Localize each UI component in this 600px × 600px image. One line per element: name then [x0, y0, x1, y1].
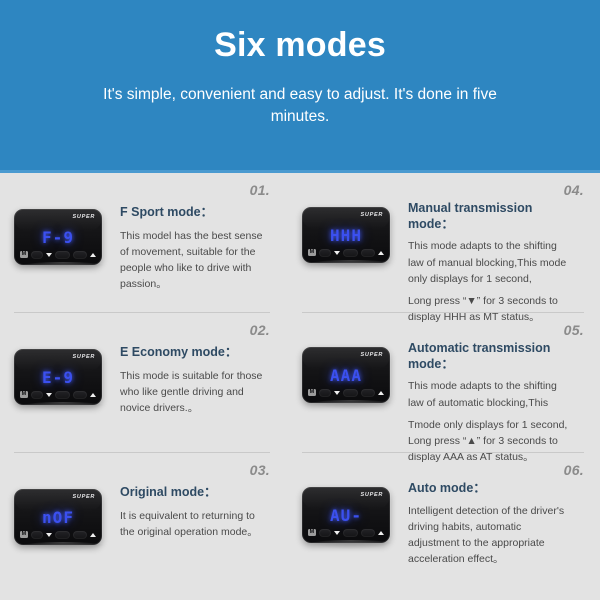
mode-cell: SUPER nOF M: [0, 453, 292, 600]
triangle-down-icon[interactable]: [334, 251, 340, 255]
device-screen: AAA: [302, 364, 390, 387]
mode-cell: SUPER HHH M: [292, 173, 592, 313]
triangle-down-icon[interactable]: [46, 393, 52, 397]
mode-title: Auto mode：: [408, 481, 568, 497]
button-bar-right[interactable]: [361, 249, 375, 257]
mode-title: Manual transmission mode：: [408, 201, 568, 232]
mode-button[interactable]: M: [308, 389, 316, 396]
device-image: SUPER F-9 M: [0, 173, 120, 265]
mode-cell: SUPER E-9 M: [0, 313, 292, 453]
button-bar-mid[interactable]: [343, 249, 358, 257]
device-image: SUPER nOF M: [0, 453, 120, 545]
device-brand-label: SUPER: [73, 354, 95, 360]
mode-button[interactable]: M: [308, 529, 316, 536]
mode-title: Original mode：: [120, 485, 270, 501]
triangle-down-icon[interactable]: [46, 253, 52, 257]
button-bar-right[interactable]: [73, 531, 87, 539]
mode-description: This mode adapts to the shifting law of …: [408, 378, 572, 411]
device-display-value: AU-: [330, 508, 362, 524]
button-bar-mid[interactable]: [343, 389, 358, 397]
mode-title: E Economy mode：: [120, 345, 270, 361]
throttle-controller-device: SUPER HHH M: [302, 207, 390, 263]
mode-cell: SUPER AU- M: [292, 453, 592, 600]
page-root: Six modes It's simple, convenient and ea…: [0, 0, 600, 600]
device-display-value: HHH: [330, 228, 362, 244]
device-button-row: M: [20, 389, 96, 400]
device-image: SUPER AAA M: [292, 313, 408, 403]
mode-button[interactable]: M: [20, 531, 28, 538]
device-display-value: F-9: [42, 230, 74, 246]
mode-number: 05.: [564, 322, 584, 338]
device-display-value: nOF: [42, 510, 74, 526]
mode-text: 04. Manual transmission mode： This mode …: [408, 173, 592, 326]
button-bar-left[interactable]: [319, 529, 331, 537]
triangle-up-icon[interactable]: [378, 391, 384, 395]
throttle-controller-device: SUPER E-9 M: [14, 349, 102, 405]
triangle-up-icon[interactable]: [378, 531, 384, 535]
button-bar-mid[interactable]: [55, 251, 70, 259]
button-bar-mid[interactable]: [343, 529, 358, 537]
device-button-row: M: [20, 249, 96, 260]
mode-description: Intelligent detection of the driver's dr…: [408, 503, 572, 568]
mode-description: This mode adapts to the shifting law of …: [408, 238, 572, 287]
button-bar-left[interactable]: [319, 389, 331, 397]
triangle-up-icon[interactable]: [378, 251, 384, 255]
device-brand-label: SUPER: [361, 212, 383, 218]
device-brand-label: SUPER: [361, 492, 383, 498]
device-image: SUPER HHH M: [292, 173, 408, 263]
button-bar-left[interactable]: [31, 251, 43, 259]
button-bar-right[interactable]: [73, 251, 87, 259]
triangle-down-icon[interactable]: [46, 533, 52, 537]
mode-button[interactable]: M: [308, 249, 316, 256]
device-screen: HHH: [302, 224, 390, 247]
mode-text: 05. Automatic transmission mode： This mo…: [408, 313, 592, 466]
button-bar-left[interactable]: [31, 531, 43, 539]
mode-cell: SUPER AAA M: [292, 313, 592, 453]
mode-cell: SUPER F-9 M: [0, 173, 292, 313]
modes-section: SUPER F-9 M: [0, 173, 600, 600]
device-screen: F-9: [14, 226, 102, 249]
device-screen: nOF: [14, 506, 102, 529]
device-button-row: M: [20, 529, 96, 540]
device-brand-label: SUPER: [361, 352, 383, 358]
device-screen: AU-: [302, 504, 390, 527]
header-banner: Six modes It's simple, convenient and ea…: [0, 0, 600, 170]
mode-title: Automatic transmission mode：: [408, 341, 568, 372]
mode-number: 03.: [250, 462, 270, 478]
button-bar-right[interactable]: [361, 529, 375, 537]
device-display-value: AAA: [330, 368, 362, 384]
triangle-up-icon[interactable]: [90, 393, 96, 397]
triangle-up-icon[interactable]: [90, 253, 96, 257]
mode-number: 06.: [564, 462, 584, 478]
mode-description: This mode is suitable for those who like…: [120, 368, 272, 417]
throttle-controller-device: SUPER F-9 M: [14, 209, 102, 265]
mode-number: 01.: [250, 182, 270, 198]
mode-text: 01. F Sport mode： This model has the bes…: [120, 173, 292, 293]
device-brand-label: SUPER: [73, 494, 95, 500]
device-image: SUPER E-9 M: [0, 313, 120, 405]
button-bar-left[interactable]: [31, 391, 43, 399]
triangle-down-icon[interactable]: [334, 391, 340, 395]
device-button-row: M: [308, 387, 384, 398]
mode-text: 02. E Economy mode： This mode is suitabl…: [120, 313, 292, 416]
device-brand-label: SUPER: [73, 214, 95, 220]
device-button-row: M: [308, 527, 384, 538]
button-bar-right[interactable]: [73, 391, 87, 399]
modes-grid: SUPER F-9 M: [0, 173, 592, 600]
mode-button[interactable]: M: [20, 391, 28, 398]
mode-description: This model has the best sense of movemen…: [120, 228, 272, 293]
triangle-down-icon[interactable]: [334, 531, 340, 535]
button-bar-mid[interactable]: [55, 531, 70, 539]
throttle-controller-device: SUPER AU- M: [302, 487, 390, 543]
device-image: SUPER AU- M: [292, 453, 408, 543]
button-bar-mid[interactable]: [55, 391, 70, 399]
triangle-up-icon[interactable]: [90, 533, 96, 537]
device-display-value: E-9: [42, 370, 74, 386]
page-title: Six modes: [214, 28, 386, 62]
throttle-controller-device: SUPER AAA M: [302, 347, 390, 403]
mode-number: 04.: [564, 182, 584, 198]
mode-text: 06. Auto mode： Intelligent detection of …: [408, 453, 592, 568]
page-subtitle: It's simple, convenient and easy to adju…: [80, 84, 520, 129]
button-bar-right[interactable]: [361, 389, 375, 397]
mode-description: It is equivalent to returning to the ori…: [120, 508, 272, 541]
button-bar-left[interactable]: [319, 249, 331, 257]
mode-number: 02.: [250, 322, 270, 338]
device-button-row: M: [308, 247, 384, 258]
mode-title: F Sport mode：: [120, 205, 270, 221]
throttle-controller-device: SUPER nOF M: [14, 489, 102, 545]
device-screen: E-9: [14, 366, 102, 389]
mode-button[interactable]: M: [20, 251, 28, 258]
mode-text: 03. Original mode： It is equivalent to r…: [120, 453, 292, 540]
